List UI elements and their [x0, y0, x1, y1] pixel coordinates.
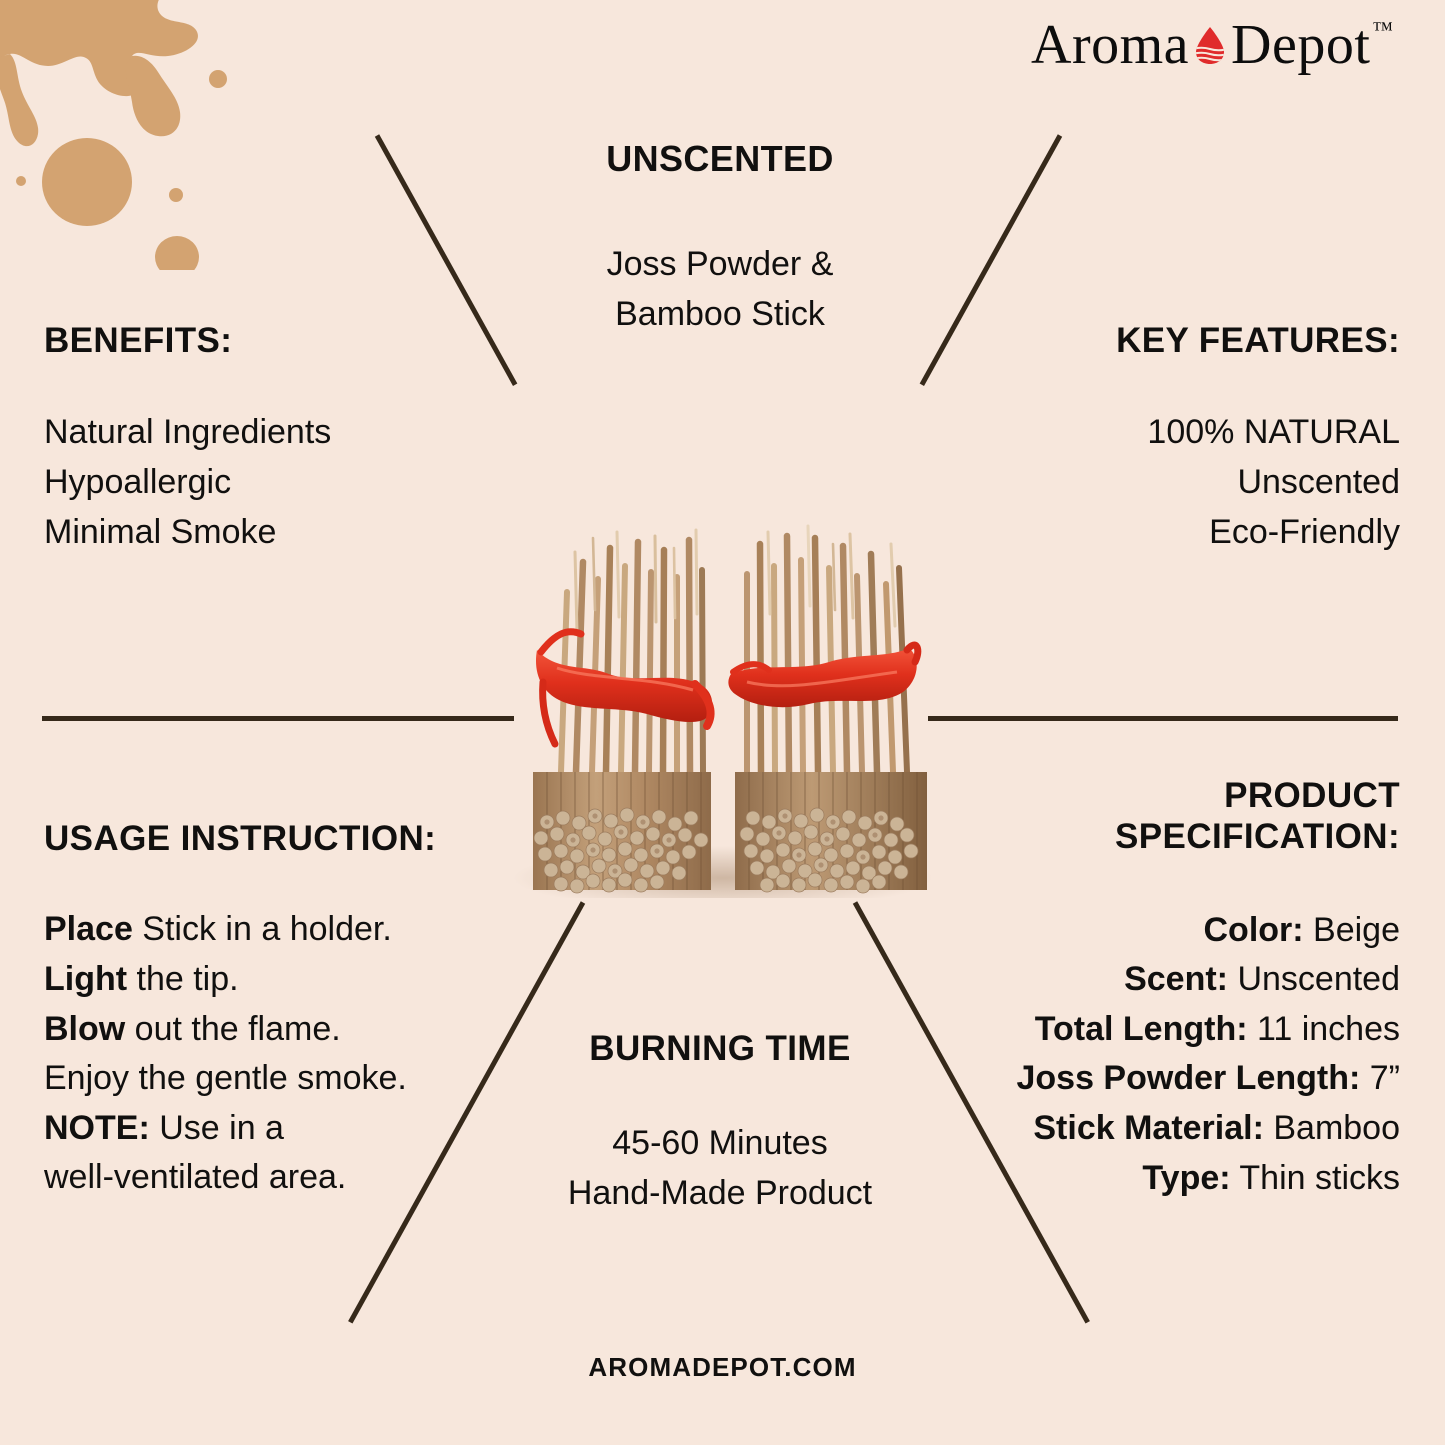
infographic-canvas: Aroma Depot ™ UNSC	[0, 0, 1445, 1445]
paint-splatter-decoration	[0, 0, 312, 270]
burning-time-line: 45-60 Minutes	[430, 1119, 1010, 1169]
burning-time-line: Hand-Made Product	[430, 1169, 1010, 1219]
key-features-item: Unscented	[970, 458, 1400, 508]
burning-time-section: BURNING TIME 45-60 Minutes Hand-Made Pro…	[430, 1028, 1010, 1219]
product-specification-heading-line: SPECIFICATION:	[910, 816, 1400, 857]
spec-label: Joss Powder Length:	[1016, 1059, 1360, 1097]
spec-value: Thin sticks	[1231, 1159, 1400, 1197]
spec-value: 11 inches	[1248, 1010, 1400, 1048]
usage-step-text: the tip.	[127, 960, 239, 998]
benefits-item: Natural Ingredients	[44, 408, 464, 458]
usage-step: Light the tip.	[44, 955, 514, 1005]
unscented-section: UNSCENTED Joss Powder & Bamboo Stick	[430, 138, 1010, 340]
red-ribbon-right	[728, 645, 917, 707]
spec-label: Stick Material:	[1033, 1109, 1264, 1147]
key-features-section: KEY FEATURES: 100% NATURAL Unscented Eco…	[970, 320, 1400, 557]
benefits-item: Minimal Smoke	[44, 508, 464, 558]
unscented-line: Bamboo Stick	[430, 290, 1010, 340]
key-features-item: 100% NATURAL	[970, 408, 1400, 458]
spec-value: Bamboo	[1264, 1109, 1400, 1147]
spec-value: Beige	[1304, 911, 1400, 949]
spec-value: 7”	[1360, 1059, 1400, 1097]
benefits-heading: BENEFITS:	[44, 320, 464, 361]
trademark-symbol: ™	[1372, 19, 1393, 40]
logo-word-aroma: Aroma	[1031, 17, 1189, 73]
spec-label: Scent:	[1124, 960, 1228, 998]
usage-step-keyword: Blow	[44, 1010, 125, 1048]
key-features-heading: KEY FEATURES:	[970, 320, 1400, 361]
usage-step-text: out the flame.	[125, 1010, 340, 1048]
usage-step-text: Use in a	[150, 1109, 284, 1147]
key-features-item: Eco-Friendly	[970, 508, 1400, 558]
product-specification-heading-line: PRODUCT	[910, 775, 1400, 816]
footer-website[interactable]: AROMADEPOT.COM	[0, 1352, 1445, 1383]
spec-row: Scent: Unscented	[910, 955, 1400, 1005]
burning-time-details: 45-60 Minutes Hand-Made Product	[430, 1119, 1010, 1218]
burning-time-heading: BURNING TIME	[430, 1028, 1010, 1069]
spec-label: Total Length:	[1035, 1010, 1248, 1048]
spec-value: Unscented	[1228, 960, 1400, 998]
spec-label: Color:	[1204, 911, 1304, 949]
usage-instruction-heading: USAGE INSTRUCTION:	[44, 818, 514, 859]
unscented-heading: UNSCENTED	[430, 138, 1010, 180]
divider-line-right	[928, 716, 1398, 721]
spec-row: Color: Beige	[910, 906, 1400, 956]
benefits-section: BENEFITS: Natural Ingredients Hypoallerg…	[44, 320, 464, 557]
usage-step-keyword: Light	[44, 960, 127, 998]
usage-step-text: Enjoy the gentle smoke.	[44, 1059, 407, 1097]
benefits-list: Natural Ingredients Hypoallergic Minimal…	[44, 408, 464, 557]
usage-step-text: Stick in a holder.	[133, 910, 392, 948]
product-specification-heading: PRODUCT SPECIFICATION:	[910, 775, 1400, 858]
brand-logo[interactable]: Aroma Depot ™	[1031, 17, 1393, 73]
unscented-description: Joss Powder & Bamboo Stick	[430, 240, 1010, 339]
usage-step: Place Stick in a holder.	[44, 905, 514, 955]
incense-bundles-image	[497, 522, 949, 898]
usage-step-keyword: NOTE:	[44, 1109, 150, 1147]
benefits-item: Hypoallergic	[44, 458, 464, 508]
key-features-list: 100% NATURAL Unscented Eco-Friendly	[970, 408, 1400, 557]
spec-label: Type:	[1142, 1159, 1230, 1197]
red-droplet-icon	[1190, 17, 1230, 73]
logo-word-depot: Depot	[1231, 17, 1370, 73]
divider-line-left	[42, 716, 514, 721]
usage-step-text: well-ventilated area.	[44, 1158, 346, 1196]
unscented-line: Joss Powder &	[430, 240, 1010, 290]
usage-step-keyword: Place	[44, 910, 133, 948]
